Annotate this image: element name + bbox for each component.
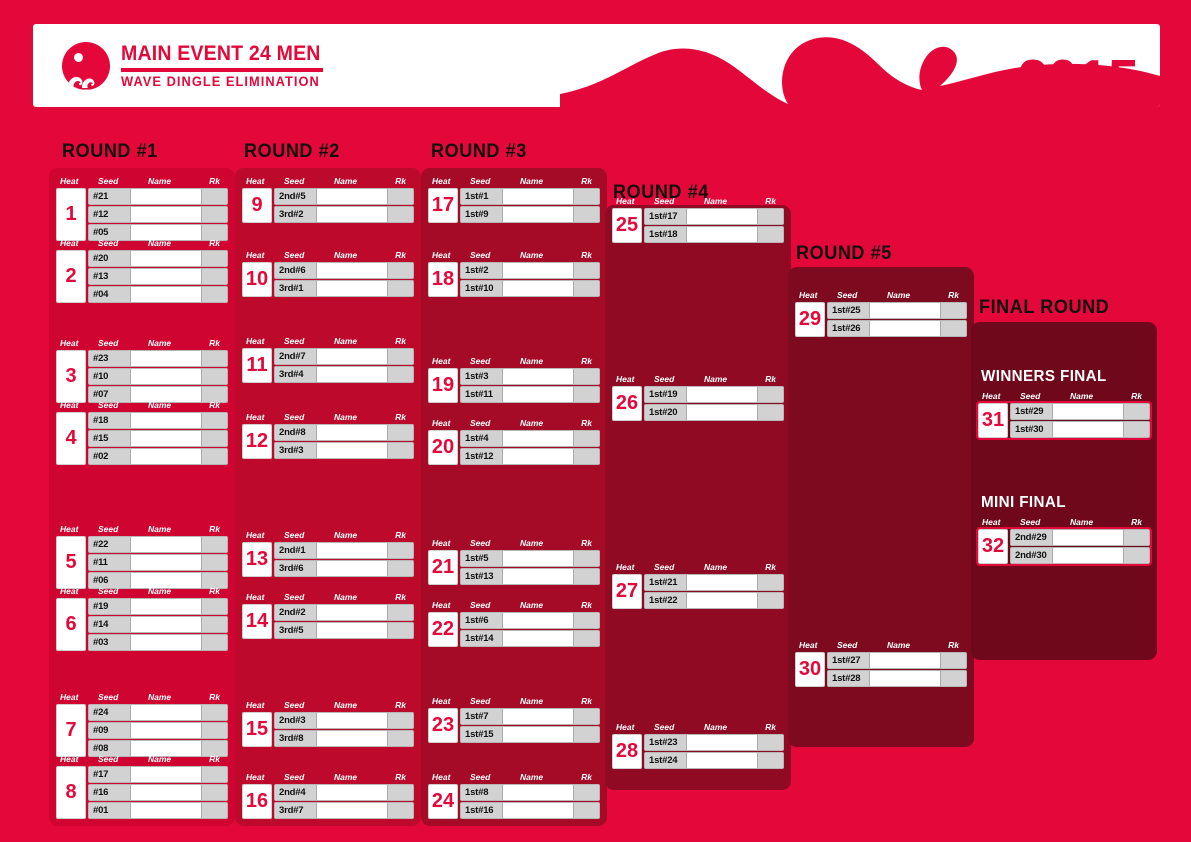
column-header-seed: Seed [284,592,304,602]
rank-input[interactable] [757,209,783,224]
heat-number: 4 [56,412,86,465]
rank-input[interactable] [201,413,227,428]
name-input[interactable] [870,321,940,336]
competitor-row: 1st#22 [644,592,784,609]
column-header-name: Name [334,530,357,540]
heat-column-headers: HeatSeedNameRk [242,700,414,712]
rank-input[interactable] [573,631,599,646]
rank-input[interactable] [387,207,413,222]
column-header-rk: Rk [209,176,220,186]
column-header-name: Name [148,238,171,248]
heat-number: 27 [612,574,642,609]
name-input[interactable] [1053,404,1123,419]
column-header-seed: Seed [98,692,118,702]
seed-cell: #02 [89,449,131,464]
name-input[interactable] [131,251,201,266]
name-input[interactable] [503,189,573,204]
column-header-rk: Rk [1131,517,1142,527]
rank-input[interactable] [201,785,227,800]
name-input[interactable] [131,189,201,204]
heat-block-17: HeatSeedNameRk171st#11st#9 [428,176,600,223]
rank-input[interactable] [387,561,413,576]
rank-input[interactable] [201,449,227,464]
competitor-row: 2nd#5 [274,188,414,205]
name-input[interactable] [870,303,940,318]
column-header-name: Name [334,412,357,422]
brand-block: MAIN EVENT 24 MEN WAVE DINGLE ELIMINATIO… [121,43,541,90]
name-input[interactable] [687,753,757,768]
heat-block-23: HeatSeedNameRk231st#71st#15 [428,696,600,743]
name-input[interactable] [1053,422,1123,437]
rank-input[interactable] [940,653,966,668]
name-input[interactable] [317,623,387,638]
name-input[interactable] [503,803,573,818]
column-header-heat: Heat [60,238,78,248]
seed-cell: 1st#29 [1011,404,1053,419]
rank-input[interactable] [757,575,783,590]
competitor-row: 3rd#4 [274,366,414,383]
name-input[interactable] [503,709,573,724]
rank-input[interactable] [201,251,227,266]
column-header-heat: Heat [246,592,264,602]
column-header-name: Name [520,772,543,782]
seed-cell: 2nd#4 [275,785,317,800]
heat-block-21: HeatSeedNameRk211st#51st#13 [428,538,600,585]
competitor-row: 1st#5 [460,550,600,567]
name-input[interactable] [131,369,201,384]
column-header-seed: Seed [284,412,304,422]
seed-cell: #04 [89,287,131,302]
rank-input[interactable] [201,555,227,570]
competitor-row: #11 [88,554,228,571]
heat-number: 28 [612,734,642,769]
heat-number: 9 [242,188,272,223]
competitor-row: #04 [88,286,228,303]
column-header-name: Name [520,600,543,610]
heat-column-headers: HeatSeedNameRk [795,290,967,302]
seed-cell: #19 [89,599,131,614]
rank-input[interactable] [387,263,413,278]
heat-rows: 2nd#43rd#7 [274,784,414,819]
seed-cell: #03 [89,635,131,650]
column-header-rk: Rk [765,374,776,384]
column-header-heat: Heat [246,176,264,186]
rank-input[interactable] [573,387,599,402]
name-input[interactable] [131,269,201,284]
column-header-name: Name [334,250,357,260]
name-input[interactable] [503,551,573,566]
rank-input[interactable] [573,569,599,584]
heat-column-headers: HeatSeedNameRk [428,250,600,262]
heat-body: 112nd#73rd#4 [242,348,414,383]
heat-body: 2#20#13#04 [56,250,228,303]
heat-rows: 1st#11st#9 [460,188,600,223]
heat-block-1: HeatSeedNameRk1#21#12#05 [56,176,228,241]
rank-input[interactable] [201,369,227,384]
rank-input[interactable] [201,599,227,614]
heat-column-headers: HeatSeedNameRk [978,517,1150,529]
column-header-name: Name [334,592,357,602]
competitor-row: 3rd#8 [274,730,414,747]
heat-block-8: HeatSeedNameRk8#17#16#01 [56,754,228,819]
heat-number: 13 [242,542,272,577]
column-header-seed: Seed [1020,517,1040,527]
competitor-row: 1st#1 [460,188,600,205]
heat-rows: 1st#71st#15 [460,708,600,743]
competitor-row: 2nd#29 [1010,529,1150,546]
name-input[interactable] [317,207,387,222]
column-header-heat: Heat [982,517,1000,527]
competitor-row: #16 [88,784,228,801]
heat-rows: #22#11#06 [88,536,228,589]
heat-block-9: HeatSeedNameRk92nd#53rd#2 [242,176,414,223]
column-header-rk: Rk [395,250,406,260]
name-input[interactable] [131,555,201,570]
column-header-name: Name [887,290,910,300]
rank-input[interactable] [573,709,599,724]
seed-cell: 1st#12 [461,449,503,464]
rank-input[interactable] [387,713,413,728]
rank-input[interactable] [1123,530,1149,545]
heat-body: 162nd#43rd#7 [242,784,414,819]
rank-input[interactable] [757,227,783,242]
rank-input[interactable] [573,785,599,800]
heat-block-29: HeatSeedNameRk291st#251st#26 [795,290,967,337]
name-input[interactable] [131,635,201,650]
column-header-heat: Heat [246,772,264,782]
name-input[interactable] [503,387,573,402]
heat-block-2: HeatSeedNameRk2#20#13#04 [56,238,228,303]
rank-input[interactable] [573,189,599,204]
name-input[interactable] [687,387,757,402]
name-input[interactable] [870,653,940,668]
seed-cell: 1st#25 [828,303,870,318]
competitor-row: 1st#23 [644,734,784,751]
column-header-name: Name [148,586,171,596]
name-input[interactable] [131,431,201,446]
rank-input[interactable] [387,623,413,638]
seed-cell: 1st#4 [461,431,503,446]
winners-final-label: WINNERS FINAL [981,368,1107,386]
rank-input[interactable] [201,537,227,552]
heat-body: 261st#191st#20 [612,386,784,421]
name-input[interactable] [687,593,757,608]
seed-cell: 1st#11 [461,387,503,402]
rank-input[interactable] [387,349,413,364]
column-header-rk: Rk [209,524,220,534]
rank-input[interactable] [757,405,783,420]
rank-input[interactable] [1123,404,1149,419]
name-input[interactable] [131,351,201,366]
heat-number: 11 [242,348,272,383]
heat-rows: #23#10#07 [88,350,228,403]
heat-body: 291st#251st#26 [795,302,967,337]
column-header-name: Name [1070,391,1093,401]
heat-rows: 1st#41st#12 [460,430,600,465]
rank-input[interactable] [387,367,413,382]
rank-input[interactable] [201,431,227,446]
name-input[interactable] [317,731,387,746]
name-input[interactable] [503,727,573,742]
seed-cell: #12 [89,207,131,222]
column-header-name: Name [520,696,543,706]
competitor-row: 1st#24 [644,752,784,769]
heat-block-11: HeatSeedNameRk112nd#73rd#4 [242,336,414,383]
seed-cell: 1st#26 [828,321,870,336]
column-header-heat: Heat [246,412,264,422]
name-input[interactable] [317,561,387,576]
rank-input[interactable] [387,281,413,296]
seed-cell: 1st#30 [1011,422,1053,437]
heat-rows: 1st#21st#10 [460,262,600,297]
competitor-row: 1st#15 [460,726,600,743]
heat-number: 16 [242,784,272,819]
final-round-title: FINAL ROUND [979,297,1109,319]
column-header-heat: Heat [246,336,264,346]
name-input[interactable] [131,599,201,614]
name-input[interactable] [870,671,940,686]
name-input[interactable] [503,569,573,584]
seed-cell: 3rd#5 [275,623,317,638]
heat-body: 251st#171st#18 [612,208,784,243]
column-header-rk: Rk [581,772,592,782]
heat-column-headers: HeatSeedNameRk [56,176,228,188]
seed-cell: #24 [89,705,131,720]
column-header-rk: Rk [395,592,406,602]
name-input[interactable] [131,723,201,738]
rank-input[interactable] [201,287,227,302]
rank-input[interactable] [387,785,413,800]
name-input[interactable] [131,537,201,552]
name-input[interactable] [503,263,573,278]
name-input[interactable] [317,803,387,818]
heat-body: 122nd#83rd#3 [242,424,414,459]
heat-block-22: HeatSeedNameRk221st#61st#14 [428,600,600,647]
seed-cell: 1st#19 [645,387,687,402]
rank-input[interactable] [573,431,599,446]
name-input[interactable] [503,281,573,296]
heat-rows: 2nd#53rd#2 [274,188,414,223]
name-input[interactable] [317,543,387,558]
heat-column-headers: HeatSeedNameRk [242,176,414,188]
seed-cell: 1st#10 [461,281,503,296]
name-input[interactable] [687,735,757,750]
rank-input[interactable] [757,593,783,608]
rank-input[interactable] [201,617,227,632]
column-header-name: Name [704,196,727,206]
seed-cell: 1st#17 [645,209,687,224]
rank-input[interactable] [201,207,227,222]
rank-input[interactable] [1123,422,1149,437]
rank-input[interactable] [387,543,413,558]
heat-number: 19 [428,368,458,403]
name-input[interactable] [131,449,201,464]
name-input[interactable] [503,631,573,646]
name-input[interactable] [317,281,387,296]
name-input[interactable] [131,767,201,782]
rank-input[interactable] [387,803,413,818]
column-header-rk: Rk [395,412,406,422]
round-2-title: ROUND #2 [244,141,340,163]
column-header-heat: Heat [60,338,78,348]
rank-input[interactable] [757,753,783,768]
heat-block-7: HeatSeedNameRk7#24#09#08 [56,692,228,757]
rank-input[interactable] [201,723,227,738]
heat-rows: 1st#291st#30 [1010,403,1150,438]
rank-input[interactable] [387,731,413,746]
name-input[interactable] [131,287,201,302]
name-input[interactable] [503,207,573,222]
rank-input[interactable] [573,727,599,742]
name-input[interactable] [131,617,201,632]
competitor-row: #18 [88,412,228,429]
competitor-row: 1st#12 [460,448,600,465]
heat-body: 311st#291st#30 [978,403,1150,438]
rank-input[interactable] [201,351,227,366]
heat-block-15: HeatSeedNameRk152nd#33rd#8 [242,700,414,747]
heat-rows: #17#16#01 [88,766,228,819]
heat-body: 231st#71st#15 [428,708,600,743]
rank-input[interactable] [573,449,599,464]
competitor-row: 3rd#1 [274,280,414,297]
name-input[interactable] [503,613,573,628]
heat-block-6: HeatSeedNameRk6#19#14#03 [56,586,228,651]
heat-column-headers: HeatSeedNameRk [242,772,414,784]
name-input[interactable] [687,227,757,242]
column-header-name: Name [334,700,357,710]
column-header-rk: Rk [765,196,776,206]
competitor-row: 1st#26 [827,320,967,337]
competitor-row: 1st#27 [827,652,967,669]
heat-block-30: HeatSeedNameRk301st#271st#28 [795,640,967,687]
name-input[interactable] [503,431,573,446]
name-input[interactable] [131,785,201,800]
seed-cell: 1st#27 [828,653,870,668]
heat-number: 31 [978,403,1008,438]
name-input[interactable] [317,713,387,728]
seed-cell: 1st#23 [645,735,687,750]
rank-input[interactable] [387,605,413,620]
rank-input[interactable] [201,705,227,720]
column-header-seed: Seed [470,696,490,706]
column-header-seed: Seed [284,176,304,186]
rank-input[interactable] [1123,548,1149,563]
rank-input[interactable] [387,425,413,440]
heat-body: 241st#81st#16 [428,784,600,819]
name-input[interactable] [131,705,201,720]
seed-cell: #22 [89,537,131,552]
name-input[interactable] [317,785,387,800]
column-header-name: Name [148,400,171,410]
heat-column-headers: HeatSeedNameRk [795,640,967,652]
name-input[interactable] [317,443,387,458]
rank-input[interactable] [573,263,599,278]
name-input[interactable] [503,369,573,384]
heat-block-31: HeatSeedNameRk311st#291st#30 [978,391,1150,438]
column-header-seed: Seed [470,250,490,260]
competitor-row: #02 [88,448,228,465]
name-input[interactable] [317,605,387,620]
rank-input[interactable] [201,767,227,782]
name-input[interactable] [687,209,757,224]
name-input[interactable] [317,367,387,382]
name-input[interactable] [317,425,387,440]
rank-input[interactable] [201,803,227,818]
heat-rows: 1st#171st#18 [644,208,784,243]
heat-number: 30 [795,652,825,687]
heat-block-24: HeatSeedNameRk241st#81st#16 [428,772,600,819]
rank-input[interactable] [387,443,413,458]
rank-input[interactable] [940,671,966,686]
round-5-title: ROUND #5 [796,243,892,265]
column-header-name: Name [887,640,910,650]
column-header-rk: Rk [581,696,592,706]
name-input[interactable] [131,803,201,818]
mini-final-label: MINI FINAL [981,494,1066,512]
rank-input[interactable] [573,369,599,384]
competitor-row: #15 [88,430,228,447]
name-input[interactable] [503,785,573,800]
name-input[interactable] [131,207,201,222]
rank-input[interactable] [201,189,227,204]
column-header-seed: Seed [470,418,490,428]
heat-body: 322nd#292nd#30 [978,529,1150,564]
name-input[interactable] [131,413,201,428]
column-header-name: Name [520,250,543,260]
competitor-row: 1st#18 [644,226,784,243]
rank-input[interactable] [573,613,599,628]
name-input[interactable] [687,405,757,420]
name-input[interactable] [1053,530,1123,545]
column-header-heat: Heat [60,692,78,702]
column-header-heat: Heat [432,538,450,548]
column-header-rk: Rk [209,754,220,764]
column-header-heat: Heat [60,754,78,764]
column-header-seed: Seed [837,290,857,300]
name-input[interactable] [1053,548,1123,563]
rank-input[interactable] [573,803,599,818]
heat-body: 152nd#33rd#8 [242,712,414,747]
competitor-row: 3rd#5 [274,622,414,639]
competitor-row: 1st#9 [460,206,600,223]
rank-input[interactable] [573,281,599,296]
heat-block-25: HeatSeedNameRk251st#171st#18 [612,196,784,243]
rank-input[interactable] [573,207,599,222]
column-header-rk: Rk [581,600,592,610]
rank-input[interactable] [757,387,783,402]
rank-input[interactable] [201,635,227,650]
rank-input[interactable] [757,735,783,750]
rank-input[interactable] [940,303,966,318]
name-input[interactable] [317,349,387,364]
heat-number: 7 [56,704,86,757]
column-header-name: Name [704,374,727,384]
rank-input[interactable] [201,269,227,284]
name-input[interactable] [317,263,387,278]
name-input[interactable] [317,189,387,204]
column-header-seed: Seed [98,400,118,410]
seed-cell: #18 [89,413,131,428]
rank-input[interactable] [573,551,599,566]
heat-number: 12 [242,424,272,459]
name-input[interactable] [687,575,757,590]
column-header-rk: Rk [209,586,220,596]
heat-number: 26 [612,386,642,421]
rank-input[interactable] [387,189,413,204]
rank-input[interactable] [940,321,966,336]
seed-cell: 1st#22 [645,593,687,608]
name-input[interactable] [503,449,573,464]
